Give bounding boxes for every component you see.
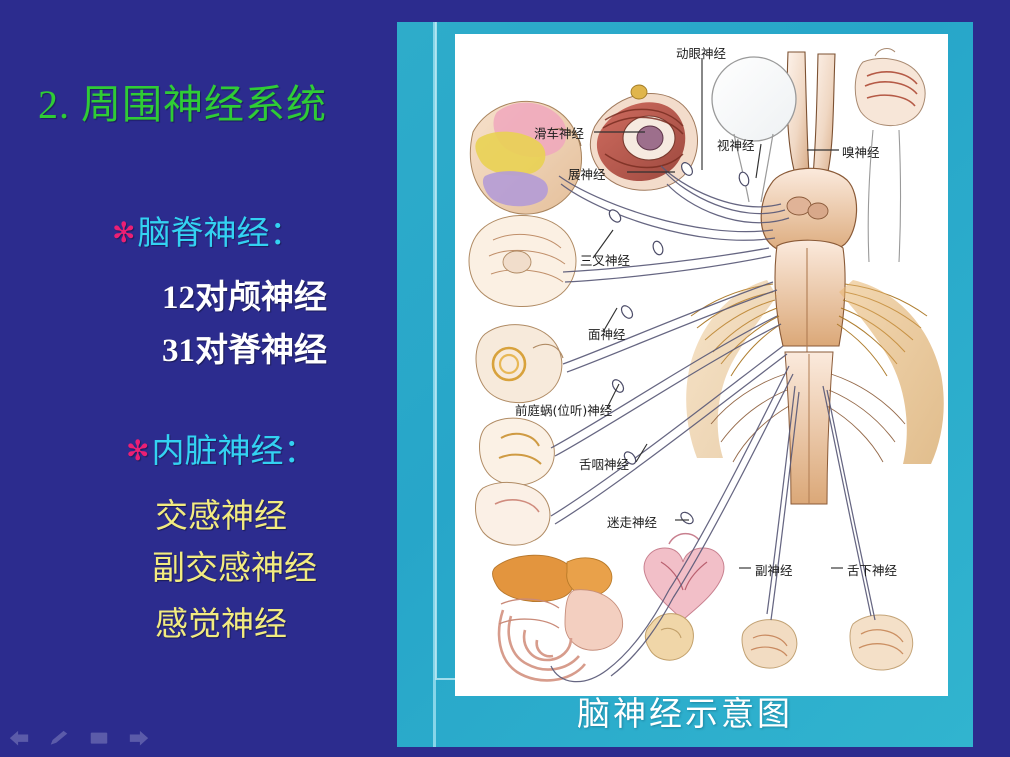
label-olfactory-nerve: 嗅神经: [842, 142, 880, 161]
bullet-heading-label: 脑脊神经：: [137, 216, 302, 252]
label-vestibulocochlear-nerve: 前庭蜗(位听)神经: [515, 400, 612, 419]
slide-text-column: 2. 周围神经系统 ✻脑脊神经： 12对颅神经 31对脊神经 ✻内脏神经： 交感…: [0, 0, 400, 757]
bullet-heading-cranial-spinal: ✻脑脊神经：: [112, 206, 302, 254]
pen-icon[interactable]: [48, 729, 70, 747]
label-hypoglossal-nerve: 舌下神经: [847, 560, 897, 579]
label-vagus-nerve: 迷走神经: [607, 512, 657, 531]
label-optic-nerve: 视神经: [717, 135, 755, 154]
cranial-nerve-diagram: 动眼神经 滑车神经 视神经 嗅神经 展神经 三叉神经 面神经 前庭蜗(位听)神经…: [455, 34, 948, 696]
slideshow-navigation-bar[interactable]: [8, 729, 150, 747]
list-item-sensory: 感觉神经: [155, 597, 287, 645]
list-item-spinal-nerves: 31对脊神经: [162, 323, 327, 371]
back-arrow-icon[interactable]: [8, 729, 30, 747]
label-abducens-nerve: 展神经: [568, 164, 606, 183]
list-item-parasympathetic: 副交感神经: [152, 541, 317, 589]
list-item-sympathetic: 交感神经: [155, 489, 287, 537]
asterisk-bullet-icon: ✻: [112, 216, 135, 249]
page-title: 2. 周围神经系统: [38, 72, 398, 130]
asterisk-bullet-icon: ✻: [126, 434, 149, 467]
label-trochlear-nerve: 滑车神经: [534, 123, 584, 142]
label-facial-nerve: 面神经: [588, 324, 626, 343]
forward-arrow-icon[interactable]: [128, 729, 150, 747]
presentation-slide: 2. 周围神经系统 ✻脑脊神经： 12对颅神经 31对脊神经 ✻内脏神经： 交感…: [0, 0, 1010, 757]
bullet-heading-visceral: ✻内脏神经：: [126, 424, 316, 472]
anatomy-image-card: 动眼神经 滑车神经 视神经 嗅神经 展神经 三叉神经 面神经 前庭蜗(位听)神经…: [455, 34, 948, 696]
figure-caption: 脑神经示意图: [397, 687, 973, 735]
label-accessory-nerve: 副神经: [755, 560, 793, 579]
label-glossopharyngeal-nerve: 舌咽神经: [579, 454, 629, 473]
slide-icon[interactable]: [88, 729, 110, 747]
label-trigeminal-nerve: 三叉神经: [580, 250, 630, 269]
bullet-heading-label: 内脏神经：: [151, 434, 316, 470]
figure-panel: 动眼神经 滑车神经 视神经 嗅神经 展神经 三叉神经 面神经 前庭蜗(位听)神经…: [397, 22, 973, 747]
label-oculomotor-nerve: 动眼神经: [676, 43, 726, 62]
list-item-cranial-nerves: 12对颅神经: [162, 270, 327, 318]
